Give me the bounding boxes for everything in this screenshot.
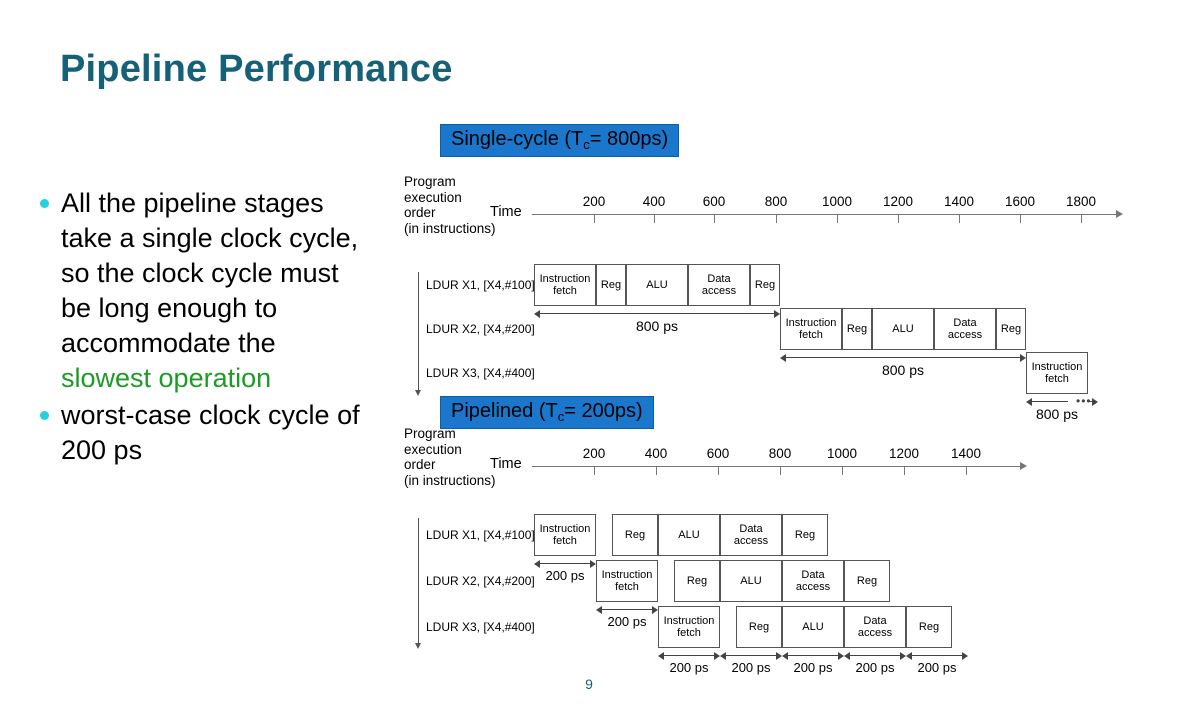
sc-r1-stage-if: Instruction fetch [534, 264, 596, 306]
list-item: All the pipeline stages take a single cl… [40, 186, 370, 396]
sc-r2-duration-arrow [780, 352, 1026, 362]
pl-caption-line-4: (in instructions) [404, 473, 496, 489]
pl-r2-stage-alu-text: ALU [740, 575, 761, 588]
sc-tick-label: 200 [583, 194, 606, 209]
pl-r1-stage-if: Instruction fetch [534, 514, 596, 556]
sc-r1-stage-data-text: Data access [689, 273, 749, 298]
sc-r2-stage-alu-text: ALU [892, 323, 913, 336]
pl-r1-stage-reg2-text: Reg [795, 529, 815, 542]
sc-caption-line-1: Program [404, 174, 496, 190]
pl-r1-offset-label: 200 ps [526, 568, 604, 583]
pl-tick [842, 466, 843, 475]
page-number: 9 [0, 676, 1178, 692]
pipelined-header-badge: Pipelined (Tc= 200ps) [440, 396, 654, 429]
pl-r3-stage-reg1: Reg [736, 606, 782, 648]
sc-r1-stage-reg2-text: Reg [755, 279, 775, 292]
bullet-2-segment-1: worst-case clock cycle of 200 ps [61, 400, 360, 465]
sc-r1-stage-reg2: Reg [750, 264, 780, 306]
sc-r2-stage-if: Instruction fetch [780, 308, 842, 350]
pl-r2-stage-reg2-text: Reg [857, 575, 877, 588]
pl-tick-label: 600 [707, 446, 730, 461]
sc-axis-caption: Program execution order (in instructions… [404, 174, 496, 236]
pl-tick-label: 800 [769, 446, 792, 461]
pl-tick [966, 466, 967, 475]
sc-tick [776, 214, 777, 223]
sc-r3-continue-arrow [1072, 396, 1098, 406]
bullet-dot-icon [40, 411, 49, 420]
sc-r2-stage-reg1: Reg [842, 308, 872, 350]
sc-tick-label: 1000 [822, 194, 852, 209]
page-title: Pipeline Performance [60, 48, 453, 91]
pl-tick-label: 200 [583, 446, 606, 461]
pl-r3-stage-alu: ALU [782, 606, 844, 648]
sc-r2-stage-data-text: Data access [935, 317, 995, 342]
pl-r2-stage-data: Data access [782, 560, 844, 602]
sc-order-axis [418, 272, 419, 390]
sc-tick-label: 1800 [1066, 194, 1096, 209]
bullet-list: All the pipeline stages take a single cl… [40, 186, 370, 470]
pipelined-header-subscript: c [558, 409, 565, 424]
pl-tick-label: 1000 [827, 446, 857, 461]
pl-r1-stage-reg2: Reg [782, 514, 828, 556]
pl-r1-stage-data: Data access [720, 514, 782, 556]
pl-caption-line-3: order [404, 457, 496, 473]
sc-tick [654, 214, 655, 223]
pl-r3-stage-if: Instruction fetch [658, 606, 720, 648]
pipelined-header-tail: = 200ps) [564, 400, 642, 422]
sc-caption-line-4: (in instructions) [404, 221, 496, 237]
pl-r3-stage-reg1-text: Reg [749, 621, 769, 634]
sc-r3-stage-if-text: Instruction fetch [1027, 361, 1087, 386]
sc-r1-stage-reg1: Reg [596, 264, 626, 306]
pl-order-axis [418, 518, 419, 643]
sc-tick-label: 600 [703, 194, 726, 209]
sc-tick [714, 214, 715, 223]
sc-tick [837, 214, 838, 223]
sc-r2-stage-reg2: Reg [996, 308, 1026, 350]
bullet-text-1: All the pipeline stages take a single cl… [61, 186, 370, 396]
pl-r1-stage-alu: ALU [658, 514, 720, 556]
pl-r3-stage-alu-text: ALU [802, 621, 823, 634]
pl-caption-line-2: execution [404, 442, 496, 458]
pl-axis-caption: Program execution order (in instructions… [404, 426, 496, 488]
sc-tick-label: 800 [765, 194, 788, 209]
pl-bottom-arrow [906, 650, 968, 660]
pl-bottom-arrow [782, 650, 844, 660]
pl-tick-label: 1400 [951, 446, 981, 461]
sc-r1-duration-label: 800 ps [534, 318, 780, 334]
sc-axis-line [532, 214, 1116, 215]
sc-tick [594, 214, 595, 223]
pl-bottom-label: 200 ps [898, 660, 976, 675]
pl-r1-stage-reg1-text: Reg [625, 529, 645, 542]
sc-axis-arrow-icon [1116, 210, 1123, 218]
pl-r3-stage-if-text: Instruction fetch [659, 615, 719, 640]
pl-r2-stage-reg2: Reg [844, 560, 890, 602]
sc-tick [959, 214, 960, 223]
bullet-text-2: worst-case clock cycle of 200 ps [61, 398, 370, 468]
single-cycle-header-tail: = 800ps) [590, 128, 668, 150]
pl-tick-label: 400 [645, 446, 668, 461]
pl-axis-line [532, 466, 1020, 467]
pl-r1-offset-arrow [534, 558, 596, 568]
sc-r2-duration-label: 800 ps [780, 362, 1026, 378]
sc-tick [1020, 214, 1021, 223]
sc-r2-stage-if-text: Instruction fetch [781, 317, 841, 342]
sc-tick [898, 214, 899, 223]
sc-time-label: Time [490, 204, 522, 220]
pl-bottom-arrow [658, 650, 720, 660]
pl-instruction-label: LDUR X3, [X4,#400] [426, 620, 535, 634]
sc-tick [1081, 214, 1082, 223]
sc-order-arrow-icon [415, 390, 421, 396]
bullet-dot-icon [40, 199, 49, 208]
pl-tick [594, 466, 595, 475]
single-cycle-header-subscript: c [583, 137, 590, 152]
sc-r1-stage-alu-text: ALU [646, 279, 667, 292]
pipeline-figure: Single-cycle (Tc= 800ps) Program executi… [404, 124, 1178, 684]
sc-r1-stage-if-text: Instruction fetch [535, 273, 595, 298]
pl-tick [904, 466, 905, 475]
sc-instruction-label: LDUR X1, [X4,#100] [426, 278, 535, 292]
pl-r3-stage-reg2: Reg [906, 606, 952, 648]
bullet-1-segment-2-highlight: slowest operation [61, 363, 271, 393]
pl-r1-stage-alu-text: ALU [678, 529, 699, 542]
pl-r1-stage-reg1: Reg [612, 514, 658, 556]
pl-instruction-label: LDUR X2, [X4,#200] [426, 574, 535, 588]
pl-caption-line-1: Program [404, 426, 496, 442]
pl-r3-stage-data: Data access [844, 606, 906, 648]
pl-bottom-arrow [844, 650, 906, 660]
pl-axis-arrow-icon [1020, 462, 1027, 470]
pl-r2-stage-alu: ALU [720, 560, 782, 602]
pl-order-arrow-icon [415, 643, 421, 649]
sc-r3-stage-if: Instruction fetch [1026, 352, 1088, 394]
sc-r1-stage-data: Data access [688, 264, 750, 306]
sc-tick-label: 1600 [1005, 194, 1035, 209]
single-cycle-header-text: Single-cycle (T [451, 128, 583, 150]
pl-r3-stage-reg2-text: Reg [919, 621, 939, 634]
pl-r2-stage-if-text: Instruction fetch [597, 569, 657, 594]
sc-r2-stage-reg2-text: Reg [1001, 323, 1021, 336]
pl-r1-stage-data-text: Data access [721, 523, 781, 548]
sc-instruction-label: LDUR X2, [X4,#200] [426, 322, 535, 336]
sc-instruction-label: LDUR X3, [X4,#400] [426, 366, 535, 380]
pl-bottom-arrow [720, 650, 782, 660]
single-cycle-header-badge: Single-cycle (Tc= 800ps) [440, 124, 679, 157]
pl-r2-stage-if: Instruction fetch [596, 560, 658, 602]
sc-caption-line-3: order [404, 205, 496, 221]
sc-r3-duration-arrow [1026, 396, 1072, 406]
pipelined-header-text: Pipelined (T [451, 400, 558, 422]
sc-r1-stage-reg1-text: Reg [601, 279, 621, 292]
pl-instruction-label: LDUR X1, [X4,#100] [426, 528, 535, 542]
sc-r1-duration-arrow [534, 308, 780, 318]
sc-caption-line-2: execution [404, 190, 496, 206]
sc-r2-stage-data: Data access [934, 308, 996, 350]
sc-r3-duration-label: 800 ps [1016, 406, 1098, 422]
pl-r2-stage-data-text: Data access [783, 569, 843, 594]
pl-r2-stage-reg1: Reg [674, 560, 720, 602]
sc-r1-stage-alu: ALU [626, 264, 688, 306]
sc-tick-label: 1200 [883, 194, 913, 209]
pl-r3-stage-data-text: Data access [845, 615, 905, 640]
sc-tick-label: 1400 [944, 194, 974, 209]
sc-tick-label: 400 [643, 194, 666, 209]
sc-r2-stage-reg1-text: Reg [847, 323, 867, 336]
pl-r2-stage-reg1-text: Reg [687, 575, 707, 588]
pl-r2-offset-arrow [596, 604, 658, 614]
pl-time-label: Time [490, 456, 522, 472]
pl-tick [718, 466, 719, 475]
pl-tick [656, 466, 657, 475]
bullet-1-segment-1: All the pipeline stages take a single cl… [61, 188, 358, 358]
pl-tick [780, 466, 781, 475]
sc-r2-stage-alu: ALU [872, 308, 934, 350]
pl-tick-label: 1200 [889, 446, 919, 461]
list-item: worst-case clock cycle of 200 ps [40, 398, 370, 468]
pl-r2-offset-label: 200 ps [588, 614, 666, 629]
pl-r1-stage-if-text: Instruction fetch [535, 523, 595, 548]
